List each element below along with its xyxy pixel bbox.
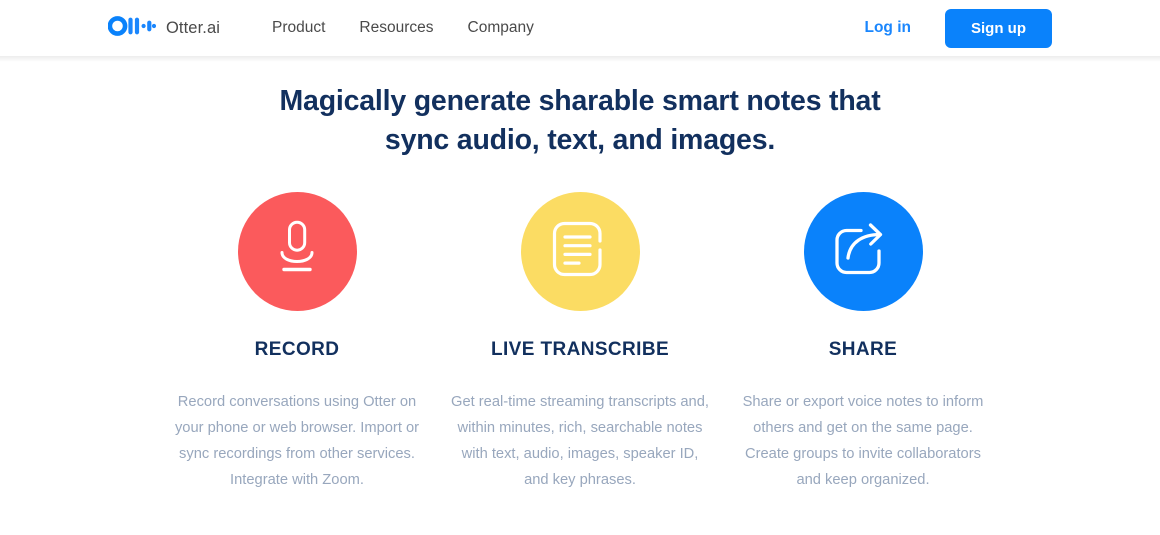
header-inner: Otter.ai Product Resources Company Log i… (0, 9, 1160, 48)
feature-title-record: RECORD (255, 339, 340, 361)
microphone-icon (269, 219, 325, 284)
nav-item-product[interactable]: Product (272, 19, 325, 37)
feature-body-share: Share or export voice notes to inform ot… (734, 389, 992, 494)
hero-section: Magically generate sharable smart notes … (0, 56, 1160, 493)
feature-record: RECORD Record conversations using Otter … (156, 192, 439, 494)
log-in-link[interactable]: Log in (865, 19, 912, 37)
share-icon (833, 220, 893, 283)
page-headline: Magically generate sharable smart notes … (0, 82, 1160, 160)
header-actions: Log in Sign up (865, 9, 1053, 48)
brand-home-link[interactable]: Otter.ai (108, 16, 220, 41)
site-header: Otter.ai Product Resources Company Log i… (0, 0, 1160, 56)
feature-share: SHARE Share or export voice notes to inf… (722, 192, 1005, 494)
nav-item-resources[interactable]: Resources (359, 19, 433, 37)
feature-title-share: SHARE (829, 339, 898, 361)
sign-up-button[interactable]: Sign up (945, 9, 1052, 48)
headline-line-2: sync audio, text, and images. (0, 121, 1160, 160)
feature-live-transcribe: LIVE TRANSCRIBE Get real-time streaming … (439, 192, 722, 494)
otter-logo-icon (108, 16, 156, 41)
feature-body-record: Record conversations using Otter on your… (168, 389, 426, 494)
nav-item-company[interactable]: Company (468, 19, 534, 37)
main-nav: Product Resources Company (272, 19, 534, 37)
feature-icon-circle-record (238, 192, 357, 311)
feature-icon-circle-transcribe (521, 192, 640, 311)
brand-name: Otter.ai (166, 19, 220, 38)
headline-line-1: Magically generate sharable smart notes … (0, 82, 1160, 121)
transcript-document-icon (551, 220, 609, 283)
feature-icon-circle-share (804, 192, 923, 311)
feature-list: RECORD Record conversations using Otter … (0, 192, 1160, 494)
feature-title-live-transcribe: LIVE TRANSCRIBE (491, 339, 669, 361)
feature-body-live-transcribe: Get real-time streaming transcripts and,… (451, 389, 709, 494)
